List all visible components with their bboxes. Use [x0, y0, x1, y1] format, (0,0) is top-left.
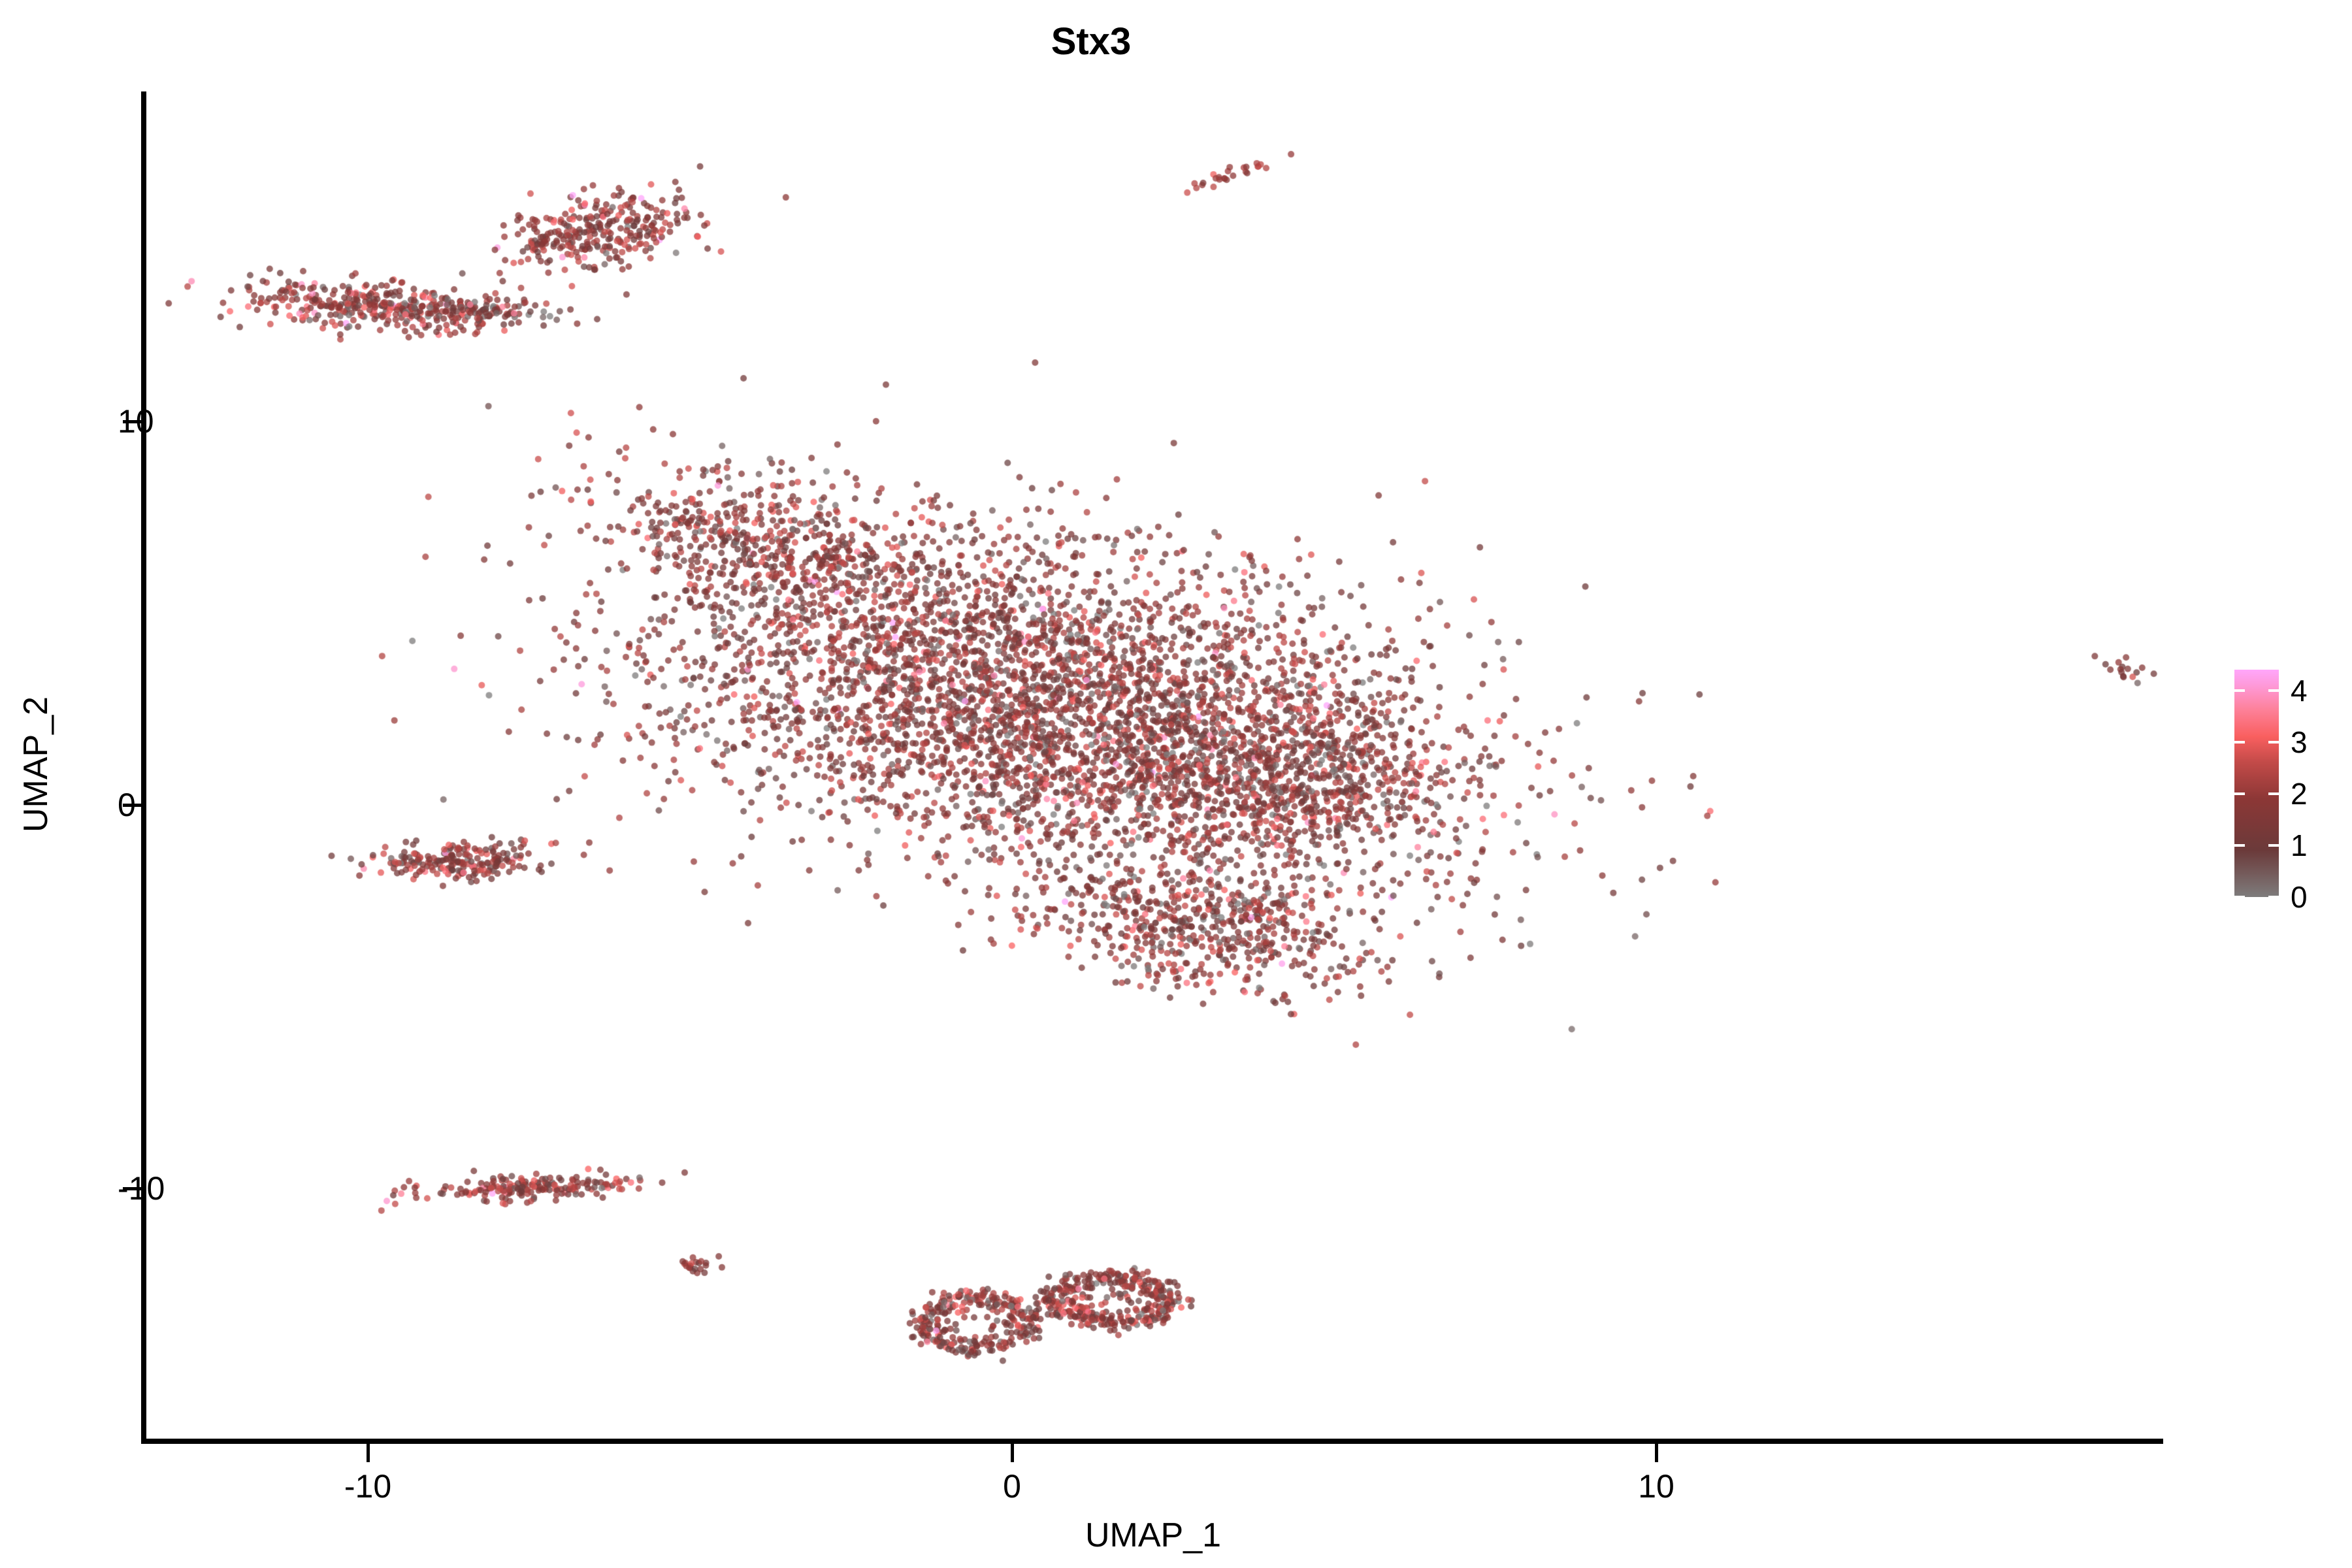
x-tick-label: 0: [1003, 1467, 1021, 1505]
colorbar-tick-mark: [2268, 741, 2279, 743]
colorbar-tick-label: 1: [2291, 828, 2308, 863]
colorbar-tick-mark: [2234, 741, 2245, 743]
colorbar-tick-label: 0: [2291, 879, 2308, 915]
y-axis-title: UMAP_2: [16, 568, 56, 960]
colorbar-tick-label: 4: [2291, 673, 2308, 708]
colorbar-tick-label: 2: [2291, 776, 2308, 811]
x-axis-line: [141, 1439, 2163, 1444]
x-tick-mark: [1011, 1444, 1014, 1462]
colorbar-tick-mark: [2234, 844, 2245, 847]
scatter-points-layer: [144, 91, 2163, 1441]
colorbar-tick-label: 3: [2291, 725, 2308, 760]
y-axis-line: [141, 91, 146, 1444]
x-tick-label: 10: [1638, 1467, 1674, 1505]
x-tick-label: -10: [344, 1467, 391, 1505]
colorbar-tick-mark: [2268, 792, 2279, 795]
colorbar-tick-mark: [2268, 689, 2279, 692]
colorbar-tick-mark: [2268, 896, 2279, 898]
x-tick-mark: [1655, 1444, 1658, 1462]
colorbar-tick-mark: [2268, 844, 2279, 847]
colorbar-legend: 01234: [2234, 670, 2352, 898]
colorbar-tick-mark: [2234, 792, 2245, 795]
figure-root: Stx3 -10010 -10010 UMAP_1 UMAP_2 01234: [0, 0, 2352, 1568]
colorbar-gradient: [2234, 670, 2279, 897]
page-title: Stx3: [0, 20, 2182, 63]
colorbar-tick-mark: [2234, 689, 2245, 692]
plot-panel: [144, 91, 2163, 1441]
x-axis-title: UMAP_1: [144, 1516, 2163, 1555]
x-tick-mark: [367, 1444, 370, 1462]
colorbar-tick-mark: [2234, 896, 2245, 898]
